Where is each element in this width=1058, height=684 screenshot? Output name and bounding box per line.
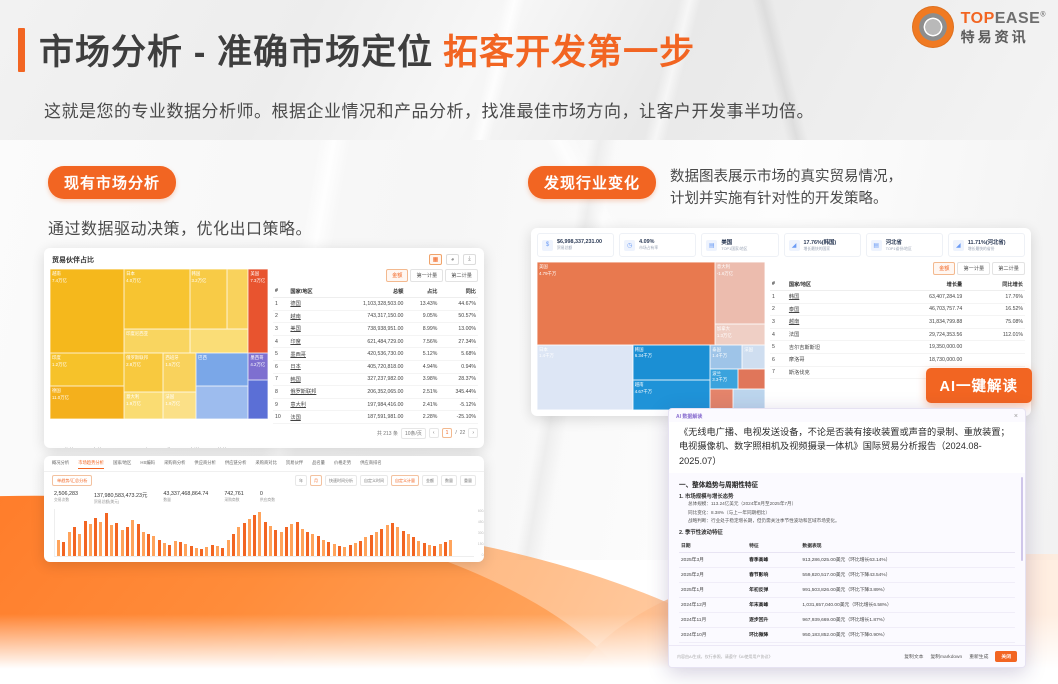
row-total: 187,591,981.00 <box>336 411 406 424</box>
growth-treemap-cell[interactable]: 加拿大1.3万亿 <box>715 324 765 345</box>
kpi-label: 供应商数 <box>260 498 275 503</box>
trade-partner-panel[interactable]: 贸易伙伴占比 ▦ ◕ ⤓ 越南7.4万亿日本4.0万亿韩国3.2万亿美国7.3万… <box>44 248 484 448</box>
row-country[interactable]: 法国 <box>288 411 335 424</box>
treemap-cell[interactable] <box>227 269 249 329</box>
dialog-row-feature: 春季高峰 <box>747 552 800 567</box>
legend-item[interactable]: 大洋洲 <box>183 447 204 448</box>
chart-bar[interactable] <box>190 546 193 556</box>
dialog-row-feature: 逐步回升 <box>747 612 800 627</box>
growth-treemap-chart[interactable]: 美国4.79千万意大利-1.6万亿加拿大1.3万亿日本1.4千万韩国6.34千万… <box>537 262 765 410</box>
treemap-cell-label: 印度尼西亚 <box>124 329 189 338</box>
row-country[interactable]: 美国 <box>288 323 335 336</box>
chart-bar[interactable] <box>195 548 198 556</box>
row-yoy: 27.34% <box>439 335 478 348</box>
dialog-row-feature: 春节影响 <box>747 567 800 582</box>
dialog-footer-button[interactable]: 重新生成 <box>969 653 988 660</box>
chart-bar[interactable] <box>131 520 134 556</box>
chart-bar[interactable] <box>311 534 314 556</box>
treemap-cell[interactable]: 印度尼西亚 <box>124 329 189 353</box>
dialog-footer: 内容由AI生成，仅行参照，请遵守《AI使用用户协议》 复制文本复制markdow… <box>669 645 1025 667</box>
trend-control[interactable]: 自定义计量 <box>391 475 419 486</box>
treemap-cell-value: 4.0万亿 <box>124 278 189 284</box>
trend-control[interactable]: 快速时间分析 <box>325 475 357 486</box>
chart-y-label: 600.00 <box>478 509 484 513</box>
logo-ring-icon <box>912 6 954 48</box>
analysis-tab-bar[interactable]: 概况分析市场趋势分析国家/地区HS编码采购商分析供应商分析供应链分析采购商对比贸… <box>44 456 484 472</box>
chart-bar[interactable] <box>142 532 145 556</box>
dialog-row-date: 2024年11月 <box>679 612 747 627</box>
dialog-footer-buttons[interactable]: 复制文本复制markdown重新生成关闭 <box>904 651 1017 662</box>
row-yoy: 50.57% <box>439 310 478 323</box>
growth-table-row[interactable]: 6摩洛哥18,730,000.00 <box>770 353 1025 366</box>
treemap-cell-value: 7.4万亿 <box>50 278 124 284</box>
kpi-item: 137,980,583,473.23元贸易总额(美元) <box>94 491 147 505</box>
stat-text: $6,998,337,231.00贸易总额 <box>557 239 602 251</box>
growth-table: #国家/地区增长量同比增长 1韩国63,407,284.1917.76%2泰国4… <box>770 278 1025 379</box>
treemap-cell-label: 俄罗斯联邦 <box>124 353 163 362</box>
row-country[interactable]: 越南 <box>288 310 335 323</box>
chart-bar[interactable] <box>370 535 373 556</box>
treemap-chart[interactable]: 越南7.4万亿日本4.0万亿韩国3.2万亿美国7.3万亿印度1.2万亿印度尼西亚… <box>50 269 268 419</box>
growth-treemap-cell[interactable]: 越南4.67千万 <box>633 380 711 410</box>
measure-tab[interactable]: 第二计量 <box>445 269 478 282</box>
table-row[interactable]: 10法国187,591,981.002.28%-25.10% <box>273 411 478 424</box>
legend-item[interactable]: 亚洲 <box>114 447 130 448</box>
view-toggle-group[interactable]: ▦ ◕ ⤓ <box>429 254 476 265</box>
title-primary: 市场分析 - 准确市场定位 <box>39 33 433 72</box>
trend-control[interactable]: 数量 <box>441 475 457 486</box>
analysis-tab[interactable]: 采购商分析 <box>164 460 185 469</box>
chart-bar[interactable] <box>99 522 102 556</box>
chart-bar[interactable] <box>152 536 155 556</box>
table-row[interactable]: 1德国1,103,328,503.0013.43%44.67% <box>273 298 478 311</box>
kpi-label: 交易次数 <box>54 498 78 503</box>
chart-legend[interactable]: 北美洲南美洲亚洲欧洲非洲大洋洲其他 <box>44 443 484 448</box>
table-row[interactable]: 7韩国327,237,982.003.98%28.37% <box>273 373 478 386</box>
chart-bar[interactable] <box>216 546 219 556</box>
trend-bar-chart[interactable]: 600.00450.00300.00150.000.00 <box>54 509 474 557</box>
chart-bar[interactable] <box>386 525 389 556</box>
analysis-tab[interactable]: 概况分析 <box>52 460 69 469</box>
chart-bar[interactable] <box>126 527 129 556</box>
trend-control[interactable]: 自定义时间 <box>360 475 388 486</box>
chart-bar[interactable] <box>417 541 420 556</box>
growth-row-index: 4 <box>770 328 787 341</box>
close-icon[interactable]: × <box>1014 413 1018 420</box>
pager-current-page[interactable]: 1 <box>442 428 453 438</box>
growth-row-country[interactable]: 韩国 <box>787 291 873 304</box>
growth-cell-value: 4.67千万 <box>633 389 711 395</box>
treemap-cell[interactable]: 墨西哥4.2万亿 <box>248 353 268 380</box>
clock-icon: ◷ <box>624 240 635 251</box>
growth-cell-label: 加拿大 <box>715 324 765 333</box>
dialog-row-data: 559,820,517.00美元（环比下降43.54%） <box>800 567 1015 582</box>
growth-row-country[interactable]: 泰国 <box>787 303 873 316</box>
chart-bar[interactable] <box>94 518 97 557</box>
growth-row-value: 31,834,799.88 <box>873 316 964 329</box>
chart-bar[interactable] <box>179 542 182 556</box>
table-pagination[interactable]: 共 213 条10条/页‹1/22› <box>273 428 478 439</box>
row-share: 2.51% <box>405 386 439 399</box>
analysis-tab[interactable]: 市场趋势分析 <box>78 460 104 469</box>
kpi-value: 742,761 <box>224 491 244 497</box>
row-yoy: -25.10% <box>439 411 478 424</box>
analysis-tab[interactable]: 供应商排名 <box>360 460 381 469</box>
dialog-scrollbar[interactable] <box>1021 477 1024 561</box>
chart-bar[interactable] <box>78 534 81 556</box>
chart-bar[interactable] <box>110 525 113 556</box>
treemap-cell[interactable]: 俄罗斯联邦2.8万亿 <box>124 353 163 392</box>
stat-card[interactable]: $$6,998,337,231.00贸易总额 <box>537 233 614 257</box>
row-country[interactable]: 韩国 <box>288 373 335 386</box>
treemap-cell-label: 日本 <box>124 269 189 278</box>
table-row[interactable]: 3美国738,938,951.008.99%13.00% <box>273 323 478 336</box>
treemap-cell[interactable]: 德国11.0万亿 <box>50 386 124 419</box>
growth-treemap-cell[interactable]: 韩国6.34千万 <box>633 345 711 381</box>
trend-controls[interactable]: 年月快速时间分析自定义时间自定义计量金额数量重量 <box>295 475 476 486</box>
growth-treemap-cell[interactable]: 波兰3.3千万 <box>710 369 737 390</box>
chart-bar[interactable] <box>402 531 405 556</box>
table-row[interactable]: 9意大利197,984,416.002.41%-5.12% <box>273 398 478 411</box>
chart-bar[interactable] <box>57 540 60 557</box>
chart-bar[interactable] <box>338 546 341 556</box>
growth-treemap-cell[interactable]: 意大利-1.6万亿 <box>715 262 765 324</box>
treemap-cell[interactable]: 美国7.3万亿 <box>248 269 268 353</box>
treemap-cell-label: 印度 <box>50 353 124 362</box>
treemap-cell[interactable] <box>196 386 248 419</box>
chart-bar[interactable] <box>105 513 108 556</box>
chart-bar[interactable] <box>89 524 92 556</box>
chart-bar[interactable] <box>269 526 272 556</box>
chart-bar[interactable] <box>264 522 267 556</box>
chart-bar[interactable] <box>396 527 399 556</box>
chart-bar[interactable] <box>343 547 346 556</box>
growth-table-row[interactable]: 3越南31,834,799.8875.08% <box>770 316 1025 329</box>
dialog-table-header-row: 日期特征数据表现 <box>679 539 1015 553</box>
row-country[interactable]: 俄罗斯联邦 <box>288 386 335 399</box>
chart-bar[interactable] <box>412 537 415 556</box>
legend-item[interactable]: 其他 <box>211 447 227 448</box>
analysis-tab[interactable]: HS编码 <box>140 460 155 469</box>
treemap-cell[interactable]: 越南7.4万亿 <box>50 269 124 353</box>
chart-bar[interactable] <box>158 540 161 557</box>
treemap-cell[interactable]: 巴西 <box>196 353 248 386</box>
chart-bar[interactable] <box>433 546 436 556</box>
treemap-cell-label: 意大利 <box>124 392 163 401</box>
growth-row-index: 1 <box>770 291 787 304</box>
dialog-table-column-header: 数据表现 <box>800 539 1015 553</box>
growth-measure-tab[interactable]: 第一计量 <box>957 262 990 275</box>
pager-prev[interactable]: ‹ <box>429 428 439 438</box>
pie-view-icon[interactable]: ◕ <box>446 254 459 265</box>
row-share: 3.98% <box>405 373 439 386</box>
stat-value: 河北省 <box>886 238 912 246</box>
caption-right-line2: 计划并实施有针对性的开发策略。 <box>670 188 902 210</box>
stat-card[interactable]: ◢11.71%(河北省)增长最快的省份 <box>948 233 1025 257</box>
chart-bar[interactable] <box>306 532 309 556</box>
growth-table-row[interactable]: 2泰国46,703,757.7416.52% <box>770 303 1025 316</box>
analysis-tab[interactable]: 价格走势 <box>334 460 351 469</box>
analysis-tab[interactable]: 采购商对比 <box>255 460 276 469</box>
chart-bar[interactable] <box>364 537 367 556</box>
legend-item[interactable]: 非洲 <box>160 447 176 448</box>
row-index: 4 <box>273 335 288 348</box>
chart-bar[interactable] <box>62 542 65 556</box>
growth-measure-tabs[interactable]: 金额第一计量第二计量 <box>770 262 1025 275</box>
growth-row-country[interactable]: 斯洛伐克 <box>787 366 873 379</box>
growth-treemap-cell[interactable]: 泰国1.4千万 <box>710 345 742 369</box>
chart-bar[interactable] <box>84 521 87 556</box>
ai-interpretation-dialog[interactable]: AI 数据解读 × 《无线电广播、电视发送设备，不论是否装有接收装置或声音的录制… <box>668 408 1026 668</box>
chart-bar[interactable] <box>327 542 330 556</box>
chart-bar[interactable] <box>174 541 177 556</box>
table-row[interactable]: 4印度621,484,729.007.56%27.34% <box>273 335 478 348</box>
measure-tab[interactable]: 金额 <box>386 269 408 282</box>
stat-text: 美国TOP1国家/地区 <box>721 238 747 252</box>
chart-bar[interactable] <box>168 545 171 556</box>
chart-bar[interactable] <box>317 536 320 556</box>
dialog-footer-button[interactable]: 关闭 <box>995 651 1017 662</box>
chart-bar[interactable] <box>375 532 378 556</box>
kpi-value: 43,337,468,864.74 <box>163 491 208 497</box>
dialog-footer-button[interactable]: 复制文本 <box>904 653 923 660</box>
trend-control[interactable]: 月 <box>310 475 322 486</box>
growth-cell-label: 法国 <box>742 345 765 354</box>
chart-bar[interactable] <box>439 544 442 556</box>
treemap-cell-label: 美国 <box>248 269 268 278</box>
treemap-cell[interactable]: 法国1.9万亿 <box>163 392 196 419</box>
chart-bar[interactable] <box>163 543 166 556</box>
table-column-header: 国家/地区 <box>288 285 335 298</box>
row-country[interactable]: 德国 <box>288 298 335 311</box>
legend-label: 亚洲 <box>120 447 130 448</box>
kpi-label: 数量 <box>163 498 208 503</box>
stat-card[interactable]: ▤河北省TOP1省份/地区 <box>866 233 943 257</box>
chart-bar[interactable] <box>227 540 230 557</box>
chart-bar[interactable] <box>449 540 452 557</box>
growth-measure-tab[interactable]: 第二计量 <box>992 262 1025 275</box>
analysis-tab[interactable]: 供应链分析 <box>225 460 246 469</box>
dialog-table-row: 2025年2月春节影响559,820,517.00美元（环比下降43.54%） <box>679 567 1015 582</box>
kpi-label: 贸易总额(美元) <box>94 500 147 505</box>
row-share: 4.94% <box>405 360 439 373</box>
dialog-header: AI 数据解读 × <box>669 409 1025 422</box>
row-total: 743,317,150.00 <box>336 310 406 323</box>
chart-bar[interactable] <box>380 529 383 557</box>
growth-treemap-cell[interactable]: 法国 <box>742 345 765 369</box>
dialog-row-date: 2025年3月 <box>679 552 747 567</box>
chart-bar[interactable] <box>253 515 256 556</box>
chart-bar[interactable] <box>333 544 336 556</box>
analysis-tab[interactable]: 品名量 <box>312 460 325 469</box>
chart-bar[interactable] <box>248 519 251 556</box>
measure-tabs[interactable]: 金额第一计量第二计量 <box>273 269 478 282</box>
chart-bar[interactable] <box>322 540 325 557</box>
trend-mode-chip[interactable]: 单趋势/汇总分析 <box>52 475 92 486</box>
chart-bar[interactable] <box>349 545 352 556</box>
growth-cell-label: 越南 <box>633 380 711 389</box>
growth-row-value: 29,724,353.56 <box>873 328 964 341</box>
growth-treemap-cell[interactable] <box>733 389 765 410</box>
kpi-value: 0 <box>260 491 275 497</box>
row-country[interactable]: 墨西哥 <box>288 348 335 361</box>
legend-item[interactable]: 北美洲 <box>58 447 79 448</box>
growth-measure-tab[interactable]: 金额 <box>933 262 955 275</box>
analysis-tab[interactable]: 国家/地区 <box>113 460 131 469</box>
table-row[interactable]: 5墨西哥420,536,730.005.12%5.68% <box>273 348 478 361</box>
row-country[interactable]: 日本 <box>288 360 335 373</box>
row-total: 1,103,328,503.00 <box>336 298 406 311</box>
growth-table-row[interactable]: 1韩国63,407,284.1917.76% <box>770 291 1025 304</box>
growth-row-yoy: 16.52% <box>964 303 1025 316</box>
pager-total-pages: 22 <box>460 430 466 436</box>
chart-bar[interactable] <box>285 527 288 556</box>
market-trend-panel[interactable]: 概况分析市场趋势分析国家/地区HS编码采购商分析供应商分析供应链分析采购商对比贸… <box>44 456 484 562</box>
pager-page-size[interactable]: 10条/页 <box>401 428 426 439</box>
treemap-cell[interactable]: 日本4.0万亿 <box>124 269 189 329</box>
legend-label: 欧洲 <box>143 447 153 448</box>
chart-bar[interactable] <box>221 548 224 556</box>
growth-row-yoy <box>964 341 1025 354</box>
chart-bar[interactable] <box>258 512 261 556</box>
table-row[interactable]: 8俄罗斯联邦206,352,065.002.51%345.44% <box>273 386 478 399</box>
trend-control[interactable]: 重量 <box>460 475 476 486</box>
chart-bar[interactable] <box>274 530 277 556</box>
growth-cell-value: 1.3万亿 <box>715 333 765 339</box>
growth-cell-value: 3.3千万 <box>710 377 737 383</box>
treemap-cell-label: 法国 <box>163 392 196 401</box>
chart-bar[interactable] <box>237 527 240 556</box>
treemap-cell-value: 2.8万亿 <box>124 362 163 368</box>
dialog-row-data: 967,939,669.00美元（环比增长1.87%） <box>800 612 1015 627</box>
row-total: 420,536,730.00 <box>336 348 406 361</box>
growth-row-value: 18,730,000.00 <box>873 353 964 366</box>
chart-y-label: 150.00 <box>478 542 484 546</box>
dialog-point-1: 1. 市场规模与增长态势 <box>679 492 1015 500</box>
stat-label: TOP1省份/地区 <box>886 247 912 252</box>
dialog-point-2: 2. 季节性波动特征 <box>679 528 1015 536</box>
table-view-icon[interactable]: ▦ <box>429 254 442 265</box>
chart-bar[interactable] <box>115 523 118 556</box>
chart-bar[interactable] <box>296 522 299 556</box>
table-column-header: 同比 <box>439 285 478 298</box>
legend-item[interactable]: 南美洲 <box>86 447 107 448</box>
growth-cell-value: 1.4千万 <box>537 353 633 359</box>
trend-control[interactable]: 年 <box>295 475 307 486</box>
chart-bar[interactable] <box>359 541 362 556</box>
growth-row-country[interactable]: 法国 <box>787 328 873 341</box>
growth-treemap-cell[interactable] <box>710 389 733 410</box>
chart-bar[interactable] <box>290 524 293 556</box>
growth-cell-value: 6.34千万 <box>633 353 711 359</box>
growth-row-country[interactable]: 吉尔吉斯斯坦 <box>787 341 873 354</box>
chart-bar[interactable] <box>280 532 283 556</box>
treemap-cell[interactable]: 意大利1.9万亿 <box>124 392 163 419</box>
chart-bar[interactable] <box>147 534 150 556</box>
chart-bar[interactable] <box>200 549 203 556</box>
growth-table-row[interactable]: 4法国29,724,353.56112.01% <box>770 328 1025 341</box>
pager-next[interactable]: › <box>468 428 478 438</box>
treemap-cell[interactable]: 西班牙1.5万亿 <box>163 353 196 392</box>
growth-row-country[interactable]: 越南 <box>787 316 873 329</box>
growth-cell-label: 波兰 <box>710 369 737 378</box>
legend-item[interactable]: 欧洲 <box>137 447 153 448</box>
analysis-tab[interactable]: 供应商分析 <box>194 460 215 469</box>
chart-bar[interactable] <box>73 527 76 556</box>
chart-bar[interactable] <box>301 529 304 557</box>
dialog-row-date: 2025年1月 <box>679 582 747 597</box>
treemap-cell-value: 1.2万亿 <box>50 362 124 368</box>
chart-bar[interactable] <box>137 524 140 556</box>
dollar-icon: $ <box>542 240 553 251</box>
dialog-table-row: 2024年12月年末高峰1,031,657,040.00美元（环比增长6.58%… <box>679 597 1015 612</box>
chart-bar[interactable] <box>243 523 246 556</box>
growth-row-country[interactable]: 摩洛哥 <box>787 353 873 366</box>
chart-bar[interactable] <box>444 542 447 556</box>
dialog-row-data: 991,503,826.00美元（环比下降3.89%） <box>800 582 1015 597</box>
growth-treemap-cell[interactable]: 美国4.79千万 <box>537 262 715 345</box>
dialog-footer-button[interactable]: 复制markdown <box>930 653 962 660</box>
stat-card[interactable]: ▤美国TOP1国家/地区 <box>701 233 778 257</box>
caption-left-text: 通过数据驱动决策，优化出口策略。 <box>48 215 312 239</box>
chart-bar[interactable] <box>205 547 208 556</box>
analysis-tab[interactable]: 贸易伙伴 <box>286 460 303 469</box>
growth-treemap-cell[interactable]: 日本1.4千万 <box>537 345 633 410</box>
growth-treemap-cell[interactable] <box>738 369 765 390</box>
chart-bar[interactable] <box>391 523 394 556</box>
ai-one-click-interpret-button[interactable]: AI一键解读 <box>926 368 1033 403</box>
chart-bar[interactable] <box>423 543 426 556</box>
stat-card[interactable]: ◢17.76%(韩国)增长最快的国家 <box>784 233 861 257</box>
chart-bar[interactable] <box>68 532 71 556</box>
growth-row-yoy: 17.76% <box>964 291 1025 304</box>
chart-bar[interactable] <box>407 534 410 556</box>
treemap-cell[interactable] <box>190 329 249 353</box>
dialog-content-scroll[interactable]: 一、整体趋势与周期性特征 1. 市场规模与增长态势 总体规模：113.24亿美元… <box>669 473 1025 645</box>
chart-bar[interactable] <box>121 530 124 556</box>
pager-total: 共 213 条 <box>377 430 398 437</box>
treemap-cell-label: 德国 <box>50 386 124 395</box>
province-icon: ▤ <box>871 240 882 251</box>
growth-cell-value: 1.4千万 <box>710 353 742 359</box>
table-header-row: #国家/地区总额占比同比 <box>273 285 478 298</box>
table-row[interactable]: 2越南743,317,150.009.05%50.57% <box>273 310 478 323</box>
growth-table-row[interactable]: 5吉尔吉斯斯坦19,350,000.00 <box>770 341 1025 354</box>
growth-row-value: 46,703,757.74 <box>873 303 964 316</box>
trade-partner-title: 贸易伙伴占比 <box>52 255 94 265</box>
dialog-title: AI 数据解读 <box>676 413 702 420</box>
treemap-cell[interactable] <box>248 380 268 419</box>
treemap-cell[interactable]: 韩国3.2万亿 <box>190 269 227 329</box>
trend-toolbar[interactable]: 单趋势/汇总分析 年月快速时间分析自定义时间自定义计量金额数量重量 <box>44 472 484 489</box>
row-country[interactable]: 意大利 <box>288 398 335 411</box>
treemap-cell[interactable]: 印度1.2万亿 <box>50 353 124 386</box>
table-row[interactable]: 6日本405,720,818.004.94%0.94% <box>273 360 478 373</box>
chart-bar[interactable] <box>354 543 357 556</box>
chart-bar[interactable] <box>184 544 187 556</box>
measure-tab[interactable]: 第一计量 <box>410 269 443 282</box>
stat-card[interactable]: ◷4.09%市场占有率 <box>619 233 696 257</box>
chart-bar[interactable] <box>428 545 431 556</box>
download-icon[interactable]: ⤓ <box>463 254 476 265</box>
caption-right-text: 数据图表展示市场的真实贸易情况， 计划并实施有针对性的开发策略。 <box>670 166 902 211</box>
chart-bar[interactable] <box>232 534 235 556</box>
chart-y-label: 0.00 <box>482 553 484 557</box>
row-country[interactable]: 印度 <box>288 335 335 348</box>
trend-control[interactable]: 金额 <box>422 475 438 486</box>
kpi-item: 43,337,468,864.74数量 <box>163 491 208 505</box>
chart-bar[interactable] <box>211 545 214 556</box>
